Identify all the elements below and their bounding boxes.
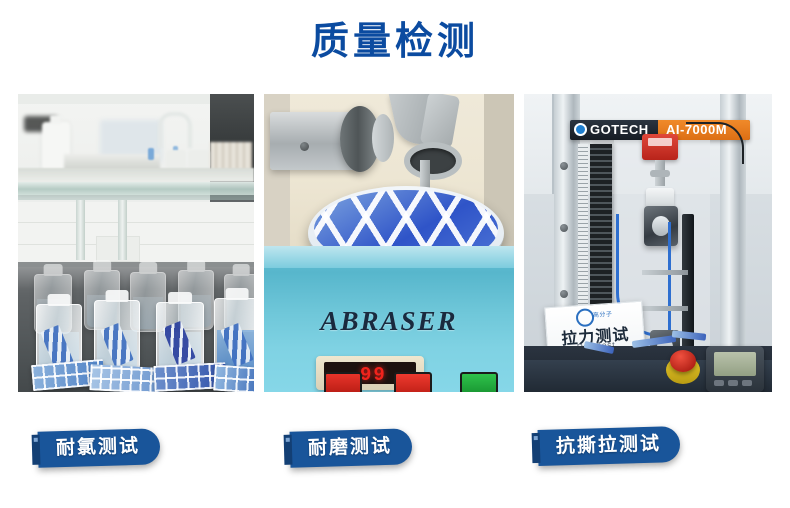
lab-back-counter (18, 168, 254, 182)
tester-bolt (560, 224, 568, 232)
caption-badge-chlorine: 耐氯测试 (38, 428, 161, 467)
panel-row: ABRASER 99 GOTECH AI-7000M (18, 94, 772, 392)
panel-tear-tensile-resistance[interactable]: GOTECH AI-7000M 高分子 (524, 94, 772, 392)
machine-brand-text: GOTECH (590, 122, 649, 137)
abraser-arm-screw (300, 142, 309, 151)
tester-crossbar-1 (642, 270, 688, 275)
lab-beaker-1 (166, 150, 186, 170)
sign-logo-text: 高分子 (593, 309, 613, 319)
quality-testing-page: 质量检测 (0, 0, 790, 508)
controller-screen (714, 352, 756, 376)
emergency-stop-button[interactable] (670, 350, 696, 372)
controller-button[interactable] (742, 380, 752, 386)
cabinet-seam-1 (18, 222, 254, 223)
tester-bolt (560, 162, 568, 170)
tester-crossbar-2 (642, 306, 688, 311)
caption-text-abrasion: 耐磨测试 (308, 429, 393, 467)
gotech-logo-icon (574, 123, 587, 136)
controller-button[interactable] (728, 380, 738, 386)
caption-text-tear: 抗撕拉测试 (556, 427, 662, 466)
abraser-switch-green[interactable] (460, 372, 498, 392)
abraser-switch-red-1[interactable] (324, 372, 362, 392)
tester-cable (686, 122, 744, 164)
lab-faucet (158, 112, 192, 148)
load-cell-label (648, 138, 672, 146)
abraser-counter-value: 99 (360, 364, 387, 386)
abraser-brand-text: ABRASER (264, 306, 514, 337)
tester-bolt (560, 290, 568, 298)
abraser-wheel-hub (372, 114, 394, 162)
panel-abrasion-resistance[interactable]: ABRASER 99 (264, 94, 514, 392)
caption-badge-abrasion: 耐磨测试 (290, 428, 413, 467)
tester-upper-grip-body (646, 188, 674, 208)
glass-shelf (18, 182, 254, 195)
lab-blue-vial (148, 148, 154, 160)
caption-text-chlorine: 耐氯测试 (56, 429, 141, 467)
caption-badge-tear: 抗撕拉测试 (538, 426, 681, 466)
shelf-support-2 (118, 200, 127, 260)
badge-tab (284, 435, 293, 465)
fabric-swatch-card (213, 364, 254, 392)
abraser-vacuum-ring (404, 142, 462, 180)
tester-pneumatic-hose-2 (668, 222, 671, 340)
tester-adjust-knob (650, 170, 670, 177)
abraser-body-top-edge (264, 246, 514, 268)
page-title: 质量检测 (0, 18, 790, 66)
badge-tab (32, 435, 41, 465)
shelf-support-1 (76, 200, 85, 260)
badge-tab (532, 433, 541, 463)
abraser-switch-red-2[interactable] (394, 372, 432, 392)
panel-chlorine-resistance[interactable] (18, 94, 254, 392)
controller-button[interactable] (714, 380, 724, 386)
fabric-swatch-card (89, 364, 160, 392)
glass-shelf-edge (18, 195, 254, 200)
tester-side-rail (682, 214, 694, 364)
lab-beaker-2 (188, 150, 210, 170)
